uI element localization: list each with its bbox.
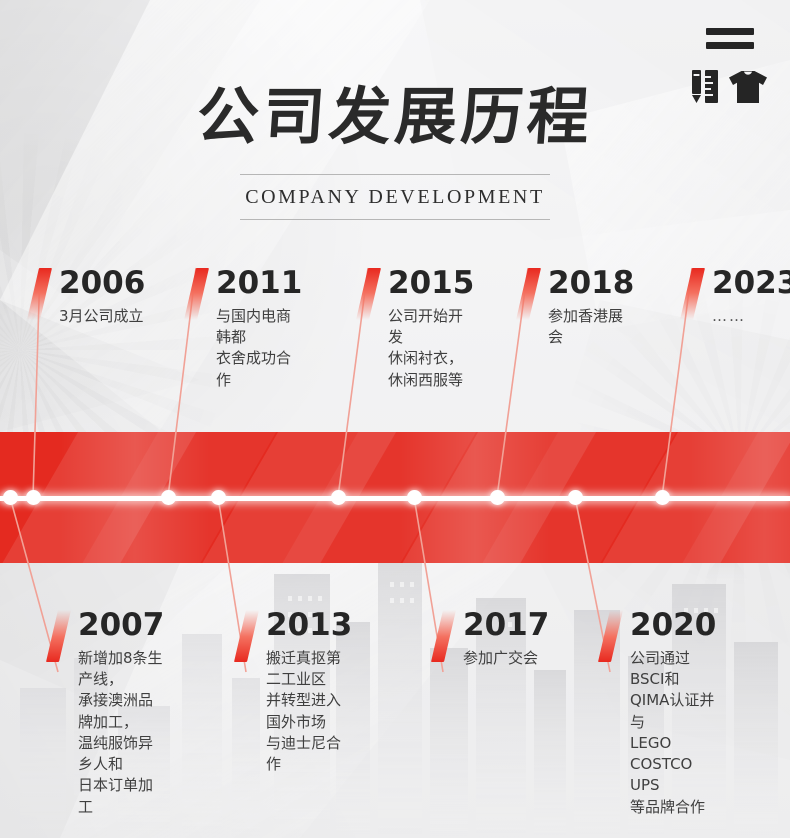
event-year: 2007: [78, 610, 164, 642]
event-year: 2015: [388, 268, 474, 300]
event-description: ……: [712, 306, 790, 327]
event-tick-icon: [234, 610, 259, 662]
timeline-dot: [490, 490, 505, 505]
event-tick-icon: [46, 610, 71, 662]
page-subtitle: COMPANY DEVELOPMENT: [0, 175, 790, 219]
event-year: 2018: [548, 268, 634, 300]
event-description: 与国内电商韩都 衣舍成功合作: [216, 306, 302, 391]
event-tick-icon: [356, 268, 381, 320]
event-description: 3月公司成立: [59, 306, 145, 327]
event-description: 公司通过BSCI和 QIMA认证并与 LEGO COSTCO UPS 等品牌合作: [630, 648, 716, 818]
event-year: 2006: [59, 268, 145, 300]
timeline-dot: [26, 490, 41, 505]
event-tick-icon: [431, 610, 456, 662]
timeline-dot: [331, 490, 346, 505]
title-block: 公司发展历程 COMPANY DEVELOPMENT: [0, 86, 790, 220]
event-description: 公司开始开发 休闲衬衣， 休闲西服等: [388, 306, 474, 391]
event-tick-icon: [27, 268, 52, 320]
event-tick-icon: [184, 268, 209, 320]
timeline-dot: [3, 490, 18, 505]
event-year: 2023: [712, 268, 790, 300]
event-description: 新增加8条生产线， 承接澳洲品牌加工， 温纯服饰异乡人和 日本订单加工: [78, 648, 164, 818]
title-rule-bottom: [240, 219, 550, 220]
event-description: 搬迁真抠第二工业区 并转型进入国外市场 与迪士尼合作: [266, 648, 352, 776]
timeline-axis: [0, 496, 790, 501]
timeline-dot: [655, 490, 670, 505]
event-tick-icon: [516, 268, 541, 320]
timeline-dot: [568, 490, 583, 505]
event-year: 2020: [630, 610, 716, 642]
company-development-poster: 公司发展历程 COMPANY DEVELOPMENT: [0, 0, 790, 838]
page-title: 公司发展历程: [0, 86, 790, 148]
timeline-dot: [407, 490, 422, 505]
timeline-dot: [211, 490, 226, 505]
event-year: 2011: [216, 268, 302, 300]
event-tick-icon: [680, 268, 705, 320]
timeline-dot: [161, 490, 176, 505]
event-year: 2017: [463, 610, 549, 642]
event-description: 参加广交会: [463, 648, 549, 669]
equal-bars-icon: [706, 28, 754, 56]
event-tick-icon: [598, 610, 623, 662]
event-year: 2013: [266, 610, 352, 642]
timeline-band: [0, 432, 790, 563]
event-description: 参加香港展会: [548, 306, 634, 349]
